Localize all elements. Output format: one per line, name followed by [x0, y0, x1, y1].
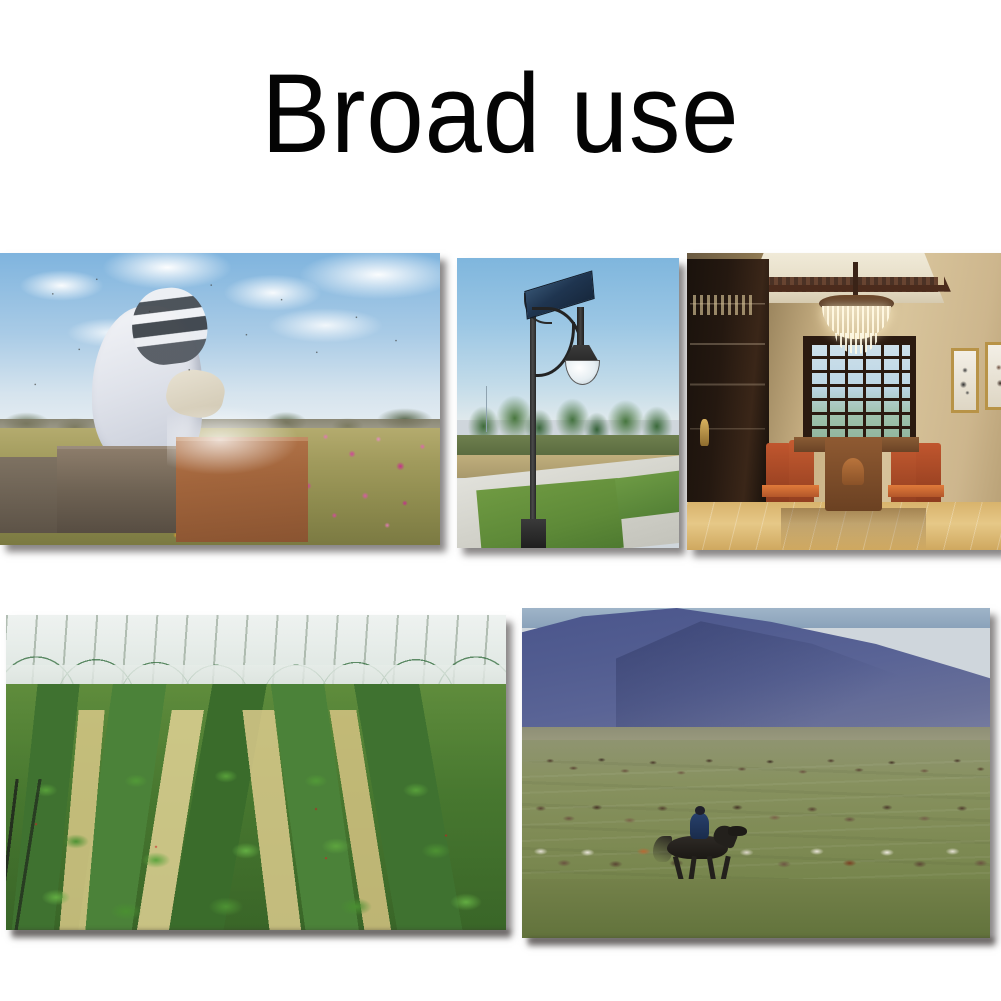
- photo-beekeeping: [0, 253, 440, 545]
- lawn-layer: [476, 478, 624, 548]
- rider-body: [690, 813, 709, 839]
- flying-bees: [0, 253, 440, 545]
- photo-dining-room-scene: [687, 253, 1001, 550]
- chair-cushions-right: [888, 485, 945, 497]
- livestock-near-row: [522, 826, 990, 879]
- chair-back-motif: [842, 458, 864, 485]
- foreground-grass: [522, 879, 990, 938]
- chair-cushions-left: [762, 485, 819, 497]
- livestock-far-row: [522, 747, 990, 793]
- lamp-drop-rod: [577, 307, 585, 348]
- photo-shadow-greenhouse: [12, 930, 510, 940]
- photo-grassland-herding: [522, 608, 990, 938]
- rider-head: [695, 806, 705, 815]
- drip-irrigation-lines: [6, 779, 306, 930]
- photo-grassland-herding-scene: [522, 608, 990, 938]
- photo-dining-room: [687, 253, 1001, 550]
- shelf-objects: [693, 295, 756, 316]
- page-title: Broad use: [40, 58, 961, 170]
- artwork-2-ink: [992, 354, 1001, 399]
- photo-solar-street-lamp: [457, 258, 679, 548]
- photo-solar-street-lamp-scene: [457, 258, 679, 548]
- horse-head: [728, 826, 747, 836]
- photo-beekeeping-scene: [0, 253, 440, 545]
- pylon-icon: [486, 386, 487, 432]
- chandelier-rod: [853, 262, 857, 298]
- photo-greenhouse-strawberries-scene: [6, 615, 506, 930]
- ceiling-wood-frame: [737, 253, 951, 292]
- photo-greenhouse-strawberries: [6, 615, 506, 930]
- photo-shadow-grassland: [528, 938, 994, 948]
- artwork-1-ink: [957, 360, 973, 402]
- product-feature-page: Broad use: [0, 0, 1001, 1001]
- shelf-bottle: [700, 419, 709, 446]
- floor-reflection: [781, 508, 925, 550]
- lamp-base: [521, 519, 545, 548]
